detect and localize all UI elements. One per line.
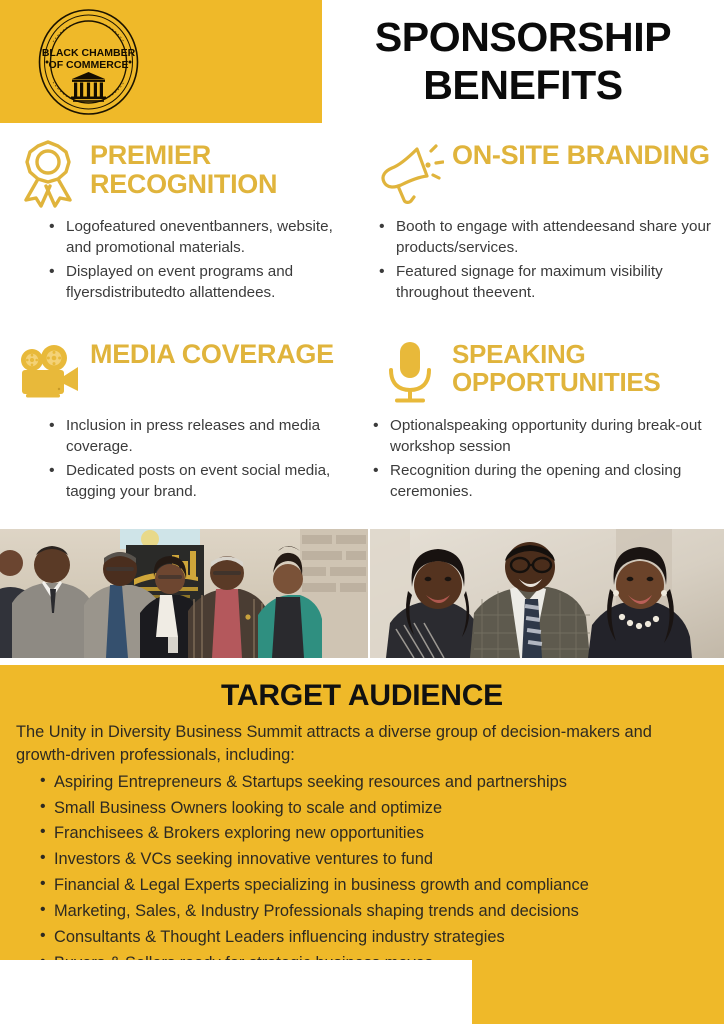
benefit-list: Logofeatured oneventbanners, website, an… (0, 217, 362, 304)
megaphone-icon (376, 135, 444, 211)
list-item: Displayed on event programs and flyersdi… (64, 262, 354, 304)
award-ribbon-icon (14, 135, 82, 211)
section-title: TARGET AUDIENCE (16, 679, 708, 713)
list-item: Small Business Owners looking to scale a… (54, 796, 708, 821)
list-item: Logofeatured oneventbanners, website, an… (64, 217, 354, 259)
list-item: Investors & VCs seeking innovative ventu… (54, 847, 708, 872)
svg-text:BLACK CHAMBER: BLACK CHAMBER (42, 47, 136, 59)
list-item: Franchisees & Brokers exploring new oppo… (54, 821, 708, 846)
list-item: Financial & Legal Experts specializing i… (54, 873, 708, 898)
photo-band (0, 529, 724, 658)
footer-yellow-block (472, 960, 724, 1024)
benefit-header: ON-SITE BRANDING (362, 127, 724, 213)
benefit-title: MEDIA COVERAGE (90, 334, 334, 369)
audience-intro: The Unity in Diversity Business Summit a… (16, 721, 708, 768)
list-item: Booth to engage with attendeesand share … (394, 217, 716, 259)
group-photo-three-attendees (370, 529, 724, 658)
benefit-title: PREMIER RECOGNITION (90, 135, 362, 199)
list-item: Aspiring Entrepreneurs & Startups seekin… (54, 770, 708, 795)
benefit-card-premier-recognition: PREMIER RECOGNITION Logofeatured onevent… (0, 127, 362, 326)
benefit-card-media-coverage: MEDIA COVERAGE Inclusion in press releas… (0, 326, 362, 525)
benefit-title: ON-SITE BRANDING (452, 135, 710, 170)
list-item: Recognition during the opening and closi… (388, 461, 716, 503)
list-item: Inclusion in press releases and media co… (64, 416, 354, 458)
list-item: Optionalspeaking opportunity during brea… (388, 416, 716, 458)
list-item: Dedicated posts on event social media, t… (64, 461, 354, 503)
benefit-title: SPEAKING OPPORTUNITIES (452, 334, 724, 396)
benefit-card-speaking-opportunities: SPEAKING OPPORTUNITIES Optionalspeaking … (362, 326, 724, 525)
benefit-list: Inclusion in press releases and media co… (0, 416, 362, 503)
list-item: Consultants & Thought Leaders influencin… (54, 925, 708, 950)
page-title: SPONSORSHIP BENEFITS (322, 14, 724, 109)
benefit-header: SPEAKING OPPORTUNITIES (362, 326, 724, 412)
film-camera-icon (14, 334, 82, 410)
footer-white-block (0, 960, 472, 1024)
benefits-grid: PREMIER RECOGNITION Logofeatured onevent… (0, 127, 724, 525)
list-item: Marketing, Sales, & Industry Professiona… (54, 899, 708, 924)
target-audience-section: TARGET AUDIENCE The Unity in Diversity B… (0, 665, 724, 960)
microphone-icon (376, 334, 444, 410)
black-chamber-of-commerce-seal-icon: BLACK CHAMBER OF COMMERCE (27, 8, 150, 116)
group-photo-five-attendees (0, 529, 368, 658)
sponsorship-benefits-flyer: BLACK CHAMBER OF COMMERCE SPONSORSHIP BE… (0, 0, 724, 1024)
benefit-header: PREMIER RECOGNITION (0, 127, 362, 213)
benefit-list: Booth to engage with attendeesand share … (362, 217, 724, 304)
benefit-header: MEDIA COVERAGE (0, 326, 362, 412)
header: BLACK CHAMBER OF COMMERCE SPONSORSHIP BE… (0, 0, 724, 123)
audience-list: Aspiring Entrepreneurs & Startups seekin… (16, 770, 708, 977)
benefit-card-on-site-branding: ON-SITE BRANDING Booth to engage with at… (362, 127, 724, 326)
list-item: Featured signage for maximum visibility … (394, 262, 716, 304)
benefit-list: Optionalspeaking opportunity during brea… (362, 416, 724, 503)
svg-text:OF COMMERCE: OF COMMERCE (49, 59, 129, 71)
footer (0, 960, 724, 1024)
